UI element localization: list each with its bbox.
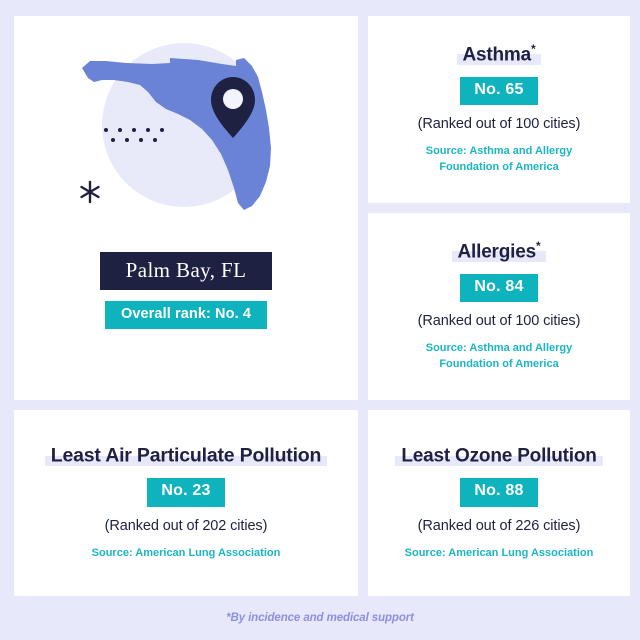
metric-rank-badge-allergies: No. 84 <box>460 274 537 302</box>
metric-panel-air-particulate: Least Air Particulate Pollution No. 23 (… <box>14 410 358 596</box>
metric-title-air-particulate: Least Air Particulate Pollution <box>45 444 327 467</box>
metric-title-text: Asthma <box>463 44 531 65</box>
florida-map-graphic <box>66 30 306 240</box>
metric-source-asthma: Source: Asthma and Allergy Foundation of… <box>426 144 573 176</box>
footnote-text: *By incidence and medical support <box>0 612 640 624</box>
metric-title-text: Least Ozone Pollution <box>401 446 596 467</box>
metric-panel-asthma: Asthma* No. 65 (Ranked out of 100 cities… <box>368 16 630 203</box>
source-line-1: Source: Asthma and Allergy <box>426 144 573 160</box>
metric-title-asthma: Asthma* <box>457 43 542 66</box>
asterisk-icon <box>82 182 99 202</box>
metric-panel-ozone: Least Ozone Pollution No. 88 (Ranked out… <box>368 410 630 596</box>
metric-panel-allergies: Allergies* No. 84 (Ranked out of 100 cit… <box>368 213 630 400</box>
metric-subtitle-asthma: (Ranked out of 100 cities) <box>418 116 581 132</box>
metric-rank-badge-ozone: No. 88 <box>460 478 537 506</box>
metric-title-ozone: Least Ozone Pollution <box>395 444 602 467</box>
overall-rank-badge: Overall rank: No. 4 <box>105 301 267 329</box>
source-line-2: Foundation of America <box>426 160 573 176</box>
metric-source-air-particulate: Source: American Lung Association <box>92 546 281 562</box>
source-line-1: Source: Asthma and Allergy <box>426 341 573 357</box>
source-line-1: Source: American Lung Association <box>92 546 281 562</box>
metric-rank-badge-asthma: No. 65 <box>460 77 537 105</box>
footnote-marker: * <box>536 239 540 253</box>
metric-title-text: Least Air Particulate Pollution <box>51 445 321 467</box>
right-metric-stack: Asthma* No. 65 (Ranked out of 100 cities… <box>368 16 630 400</box>
panel-grid: Palm Bay, FL Overall rank: No. 4 Asthma*… <box>14 16 630 596</box>
metric-subtitle-allergies: (Ranked out of 100 cities) <box>418 313 581 329</box>
source-line-2: Foundation of America <box>426 357 573 373</box>
location-pin-hole <box>223 89 243 109</box>
footnote-marker: * <box>531 42 535 56</box>
metric-source-allergies: Source: Asthma and Allergy Foundation of… <box>426 341 573 373</box>
metric-rank-badge-air-particulate: No. 23 <box>147 478 224 506</box>
city-name-banner: Palm Bay, FL <box>100 252 273 290</box>
source-line-1: Source: American Lung Association <box>405 546 594 562</box>
city-hero-panel: Palm Bay, FL Overall rank: No. 4 <box>14 16 358 400</box>
metric-subtitle-ozone: (Ranked out of 226 cities) <box>418 518 581 534</box>
metric-subtitle-air-particulate: (Ranked out of 202 cities) <box>105 518 268 534</box>
metric-title-text: Allergies <box>458 241 536 262</box>
infographic-sheet: Palm Bay, FL Overall rank: No. 4 Asthma*… <box>0 0 640 640</box>
map-illustration <box>66 30 306 240</box>
metric-title-allergies: Allergies* <box>452 240 547 263</box>
metric-source-ozone: Source: American Lung Association <box>405 546 594 562</box>
